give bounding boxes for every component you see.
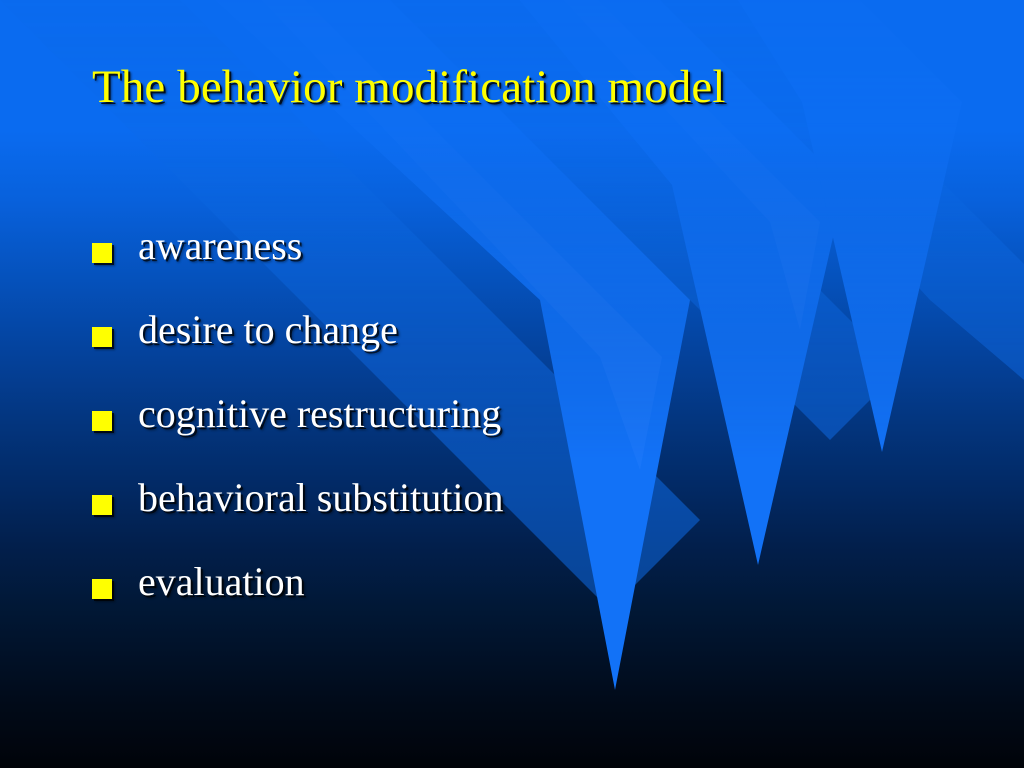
list-item-label: desire to change [138,310,398,350]
square-bullet-icon [92,327,112,347]
list-item: evaluation [92,562,942,646]
list-item-label: evaluation [138,562,305,602]
list-item: desire to change [92,310,942,394]
list-item: awareness [92,226,942,310]
list-item-label: behavioral substitution [138,478,504,518]
list-item-label: awareness [138,226,302,266]
list-item-label: cognitive restructuring [138,394,501,434]
presentation-slide: The behavior modification model awarenes… [0,0,1024,768]
square-bullet-icon [92,579,112,599]
bullet-list: awareness desire to change cognitive res… [92,226,942,646]
square-bullet-icon [92,495,112,515]
square-bullet-icon [92,243,112,263]
list-item: cognitive restructuring [92,394,942,478]
square-bullet-icon [92,411,112,431]
slide-title: The behavior modification model [92,63,972,113]
list-item: behavioral substitution [92,478,942,562]
